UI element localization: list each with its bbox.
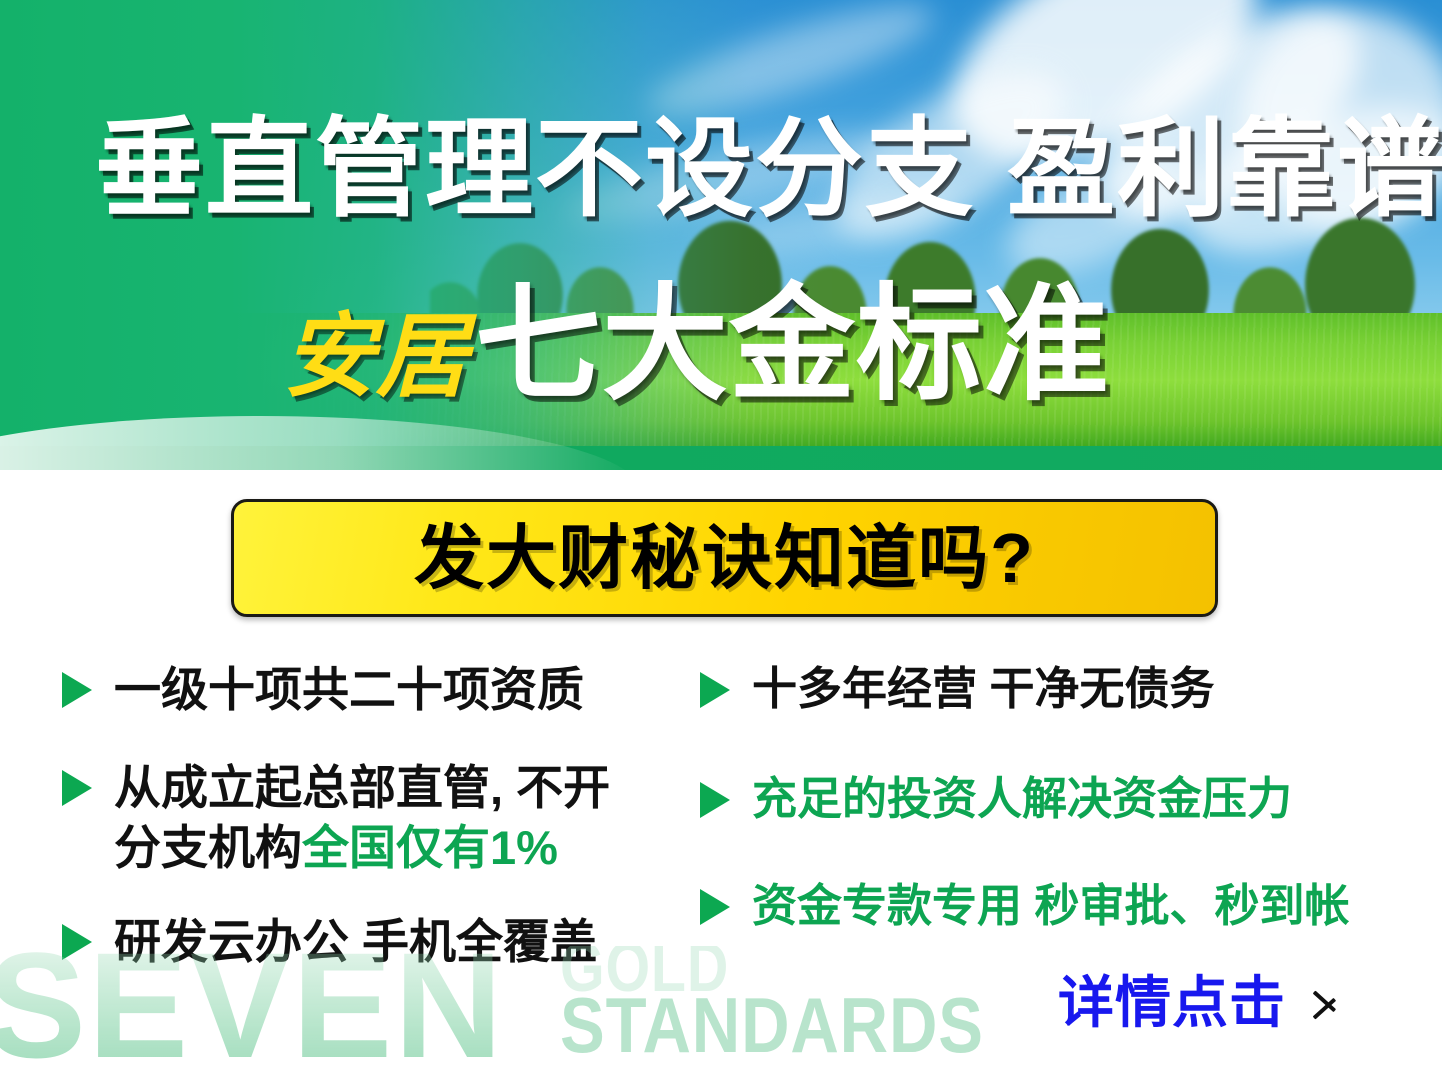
question-banner[interactable]: 发大财秘诀知道吗? — [231, 499, 1218, 617]
feature-text: 充足的投资人解决资金压力 — [752, 770, 1292, 828]
list-item: 研发云办公 手机全覆盖 — [62, 912, 682, 972]
features-left-column: 一级十项共二十项资质 从成立起总部直管, 不开 分支机构全国仅有1% 研发云办公… — [62, 660, 682, 1001]
details-link-label: 详情点击 — [1058, 975, 1286, 1031]
features-right-column: 十多年经营 干净无债务 充足的投资人解决资金压力 资金专款专用 秒审批、秒到帐 — [700, 660, 1430, 963]
brand-name-text: 安居 — [283, 306, 469, 408]
feature-text: 一级十项共二十项资质 — [114, 660, 584, 720]
triangle-bullet-icon — [700, 889, 730, 925]
triangle-bullet-icon — [700, 672, 730, 708]
feature-text: 从成立起总部直管, 不开 分支机构全国仅有1% — [114, 758, 610, 878]
feature-text: 资金专款专用 秒审批、秒到帐 — [752, 877, 1350, 935]
features-section: 一级十项共二十项资质 从成立起总部直管, 不开 分支机构全国仅有1% 研发云办公… — [0, 660, 1442, 990]
triangle-bullet-icon — [62, 924, 92, 960]
feature-text: 十多年经营 干净无债务 — [752, 660, 1215, 718]
headline-secondary: 安居七大金标准 — [283, 282, 1110, 408]
hero-section: 垂直管理不设分支 盈利靠谱 安居七大金标准 — [0, 0, 1442, 470]
feature-line: 从成立起总部直管, 不开 — [114, 761, 610, 814]
chevron-right-icon — [1312, 980, 1338, 1026]
feature-highlight: 全国仅有1% — [302, 821, 558, 874]
list-item: 从成立起总部直管, 不开 分支机构全国仅有1% — [62, 758, 682, 878]
headline-primary: 垂直管理不设分支 盈利靠谱 — [95, 115, 1442, 223]
triangle-bullet-icon — [62, 770, 92, 806]
list-item: 充足的投资人解决资金压力 — [700, 770, 1430, 828]
triangle-bullet-icon — [700, 782, 730, 818]
question-banner-label: 发大财秘诀知道吗? — [414, 523, 1035, 593]
details-link[interactable]: 详情点击 — [1058, 975, 1338, 1031]
triangle-bullet-icon — [62, 672, 92, 708]
feature-line: 研发云办公 手机全覆盖 — [114, 915, 597, 968]
list-item: 资金专款专用 秒审批、秒到帐 — [700, 877, 1430, 935]
promotional-banner: 垂直管理不设分支 盈利靠谱 安居七大金标准 发大财秘诀知道吗? 一级十项共二十项… — [0, 0, 1442, 1066]
feature-line: 分支机构 — [114, 821, 302, 874]
feature-line: 一级十项共二十项资质 — [114, 663, 584, 716]
list-item: 十多年经营 干净无债务 — [700, 660, 1430, 718]
feature-text: 研发云办公 手机全覆盖 — [114, 912, 597, 972]
headline-secondary-main: 七大金标准 — [475, 274, 1110, 415]
list-item: 一级十项共二十项资质 — [62, 660, 682, 720]
